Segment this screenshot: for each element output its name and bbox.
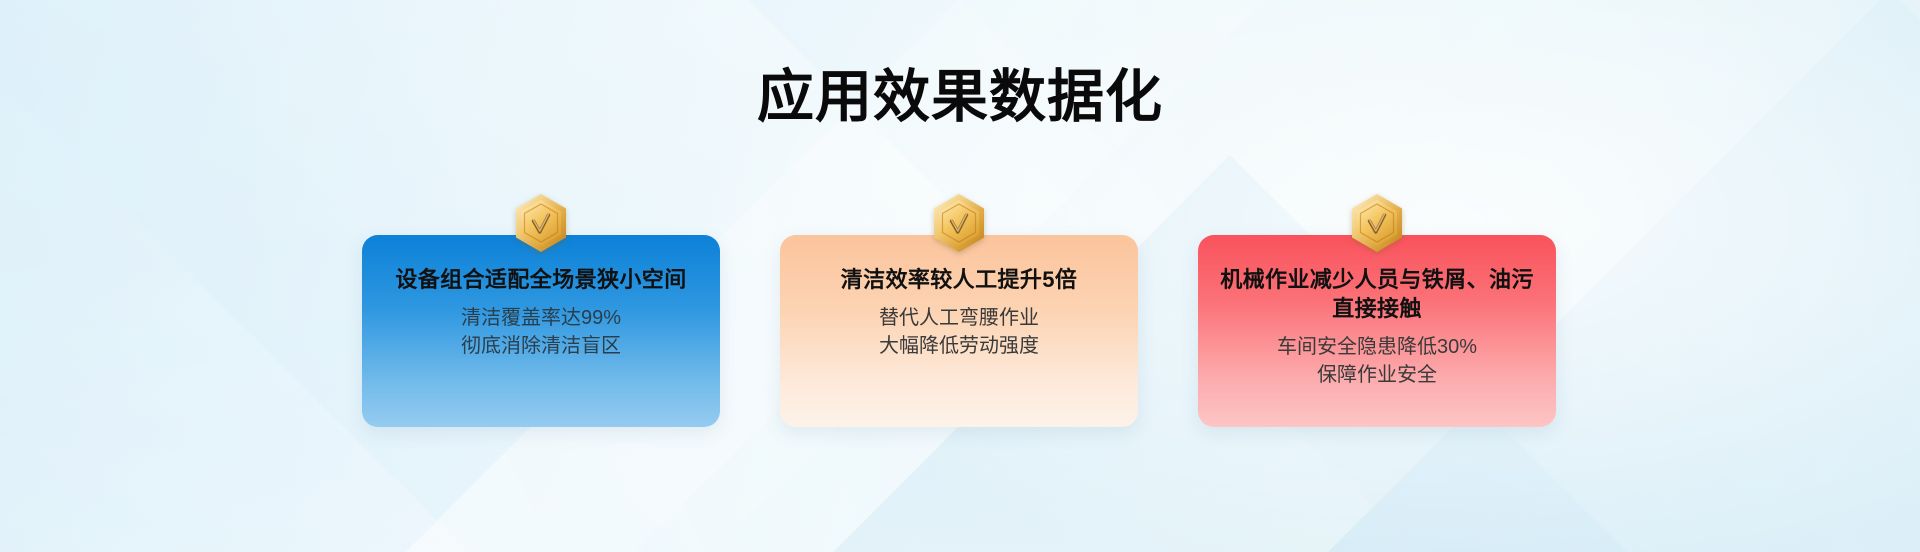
card-body: 车间安全隐患降低30% 保障作业安全: [1214, 333, 1540, 390]
card-line: 保障作业安全: [1214, 361, 1540, 389]
benefit-card-safety[interactable]: 机械作业减少人员与铁屑、油污直接接触 车间安全隐患降低30% 保障作业安全: [1198, 235, 1556, 427]
card-line: 大幅降低劳动强度: [796, 332, 1122, 360]
card-body: 清洁覆盖率达99% 彻底消除清洁盲区: [378, 304, 704, 361]
card-body: 替代人工弯腰作业 大幅降低劳动强度: [796, 304, 1122, 361]
page-title: 应用效果数据化: [0, 66, 1920, 130]
card-title: 机械作业减少人员与铁屑、油污直接接触: [1214, 265, 1540, 323]
card-line: 车间安全隐患降低30%: [1214, 333, 1540, 361]
card-title: 清洁效率较人工提升5倍: [796, 265, 1122, 294]
card-line: 替代人工弯腰作业: [796, 304, 1122, 332]
card-line: 清洁覆盖率达99%: [378, 304, 704, 332]
card-line: 彻底消除清洁盲区: [378, 332, 704, 360]
hexagon-check-badge-icon: [932, 193, 986, 253]
hexagon-check-badge-icon: [1350, 193, 1404, 253]
benefit-card-coverage[interactable]: 设备组合适配全场景狭小空间 清洁覆盖率达99% 彻底消除清洁盲区: [362, 235, 720, 427]
card-title: 设备组合适配全场景狭小空间: [378, 265, 704, 294]
benefit-card-list: 设备组合适配全场景狭小空间 清洁覆盖率达99% 彻底消除清洁盲区 清洁效率较人工…: [362, 235, 1560, 427]
benefit-card-efficiency[interactable]: 清洁效率较人工提升5倍 替代人工弯腰作业 大幅降低劳动强度: [780, 235, 1138, 427]
hexagon-check-badge-icon: [514, 193, 568, 253]
